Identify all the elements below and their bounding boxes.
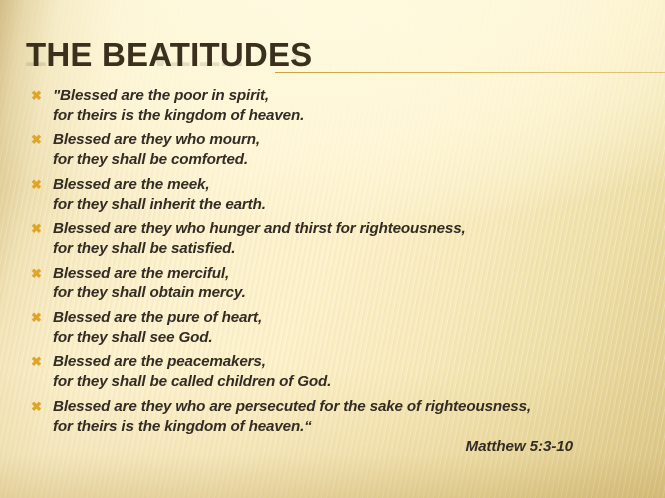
list-item: ✖Blessed are they who are persecuted for…	[26, 397, 654, 436]
cross-bullet-icon: ✖	[30, 133, 43, 146]
slide-title-block: THE BEATITUDES THE BEATITUDES	[26, 38, 646, 84]
list-item-text: Blessed are they who hunger and thirst f…	[53, 219, 654, 258]
list-item-line: Blessed are the peacemakers,	[53, 352, 654, 372]
list-item: ✖Blessed are the peacemakers,for they sh…	[26, 352, 654, 391]
cross-bullet-icon: ✖	[30, 400, 43, 413]
list-item-text: Blessed are the merciful,for they shall …	[53, 264, 654, 303]
scripture-attribution: Matthew 5:3-10	[466, 437, 573, 457]
list-item-line: for they shall obtain mercy.	[53, 283, 654, 303]
list-item-line: Blessed are the merciful,	[53, 264, 654, 284]
list-item-line: for they shall be comforted.	[53, 150, 654, 170]
cross-bullet-icon: ✖	[30, 267, 43, 280]
title-divider-rule	[275, 72, 665, 73]
list-item-text: Blessed are they who mourn,for they shal…	[53, 130, 654, 169]
list-item: ✖Blessed are the meek,for they shall inh…	[26, 175, 654, 214]
list-item-text: "Blessed are the poor in spirit,for thei…	[53, 86, 654, 125]
beatitudes-list: ✖"Blessed are the poor in spirit,for the…	[26, 86, 654, 441]
list-item-text: Blessed are the pure of heart,for they s…	[53, 308, 654, 347]
cross-bullet-icon: ✖	[30, 311, 43, 324]
list-item-line: for theirs is the kingdom of heaven.	[53, 106, 654, 126]
list-item-line: Blessed are they who are persecuted for …	[53, 397, 654, 417]
list-item-line: for they shall be satisfied.	[53, 239, 654, 259]
presentation-slide: THE BEATITUDES THE BEATITUDES ✖"Blessed …	[0, 0, 665, 498]
cross-bullet-icon: ✖	[30, 355, 43, 368]
cross-bullet-icon: ✖	[30, 178, 43, 191]
list-item-line: for they shall see God.	[53, 328, 654, 348]
list-item-line: for they shall be called children of God…	[53, 372, 654, 392]
list-item-line: Blessed are the meek,	[53, 175, 654, 195]
list-item-line: for they shall inherit the earth.	[53, 195, 654, 215]
list-item-text: Blessed are the meek,for they shall inhe…	[53, 175, 654, 214]
cross-bullet-icon: ✖	[30, 222, 43, 235]
page-title: THE BEATITUDES	[26, 38, 312, 72]
list-item-text: Blessed are they who are persecuted for …	[53, 397, 654, 436]
list-item-text: Blessed are the peacemakers,for they sha…	[53, 352, 654, 391]
list-item: ✖Blessed are they who mourn,for they sha…	[26, 130, 654, 169]
list-item-line: "Blessed are the poor in spirit,	[53, 86, 654, 106]
list-item: ✖"Blessed are the poor in spirit,for the…	[26, 86, 654, 125]
list-item-line: Blessed are they who hunger and thirst f…	[53, 219, 654, 239]
list-item-line: Blessed are the pure of heart,	[53, 308, 654, 328]
list-item-line: Blessed are they who mourn,	[53, 130, 654, 150]
list-item: ✖Blessed are they who hunger and thirst …	[26, 219, 654, 258]
cross-bullet-icon: ✖	[30, 89, 43, 102]
list-item: ✖Blessed are the pure of heart,for they …	[26, 308, 654, 347]
list-item: ✖Blessed are the merciful,for they shall…	[26, 264, 654, 303]
list-item-line: for theirs is the kingdom of heaven.“	[53, 417, 654, 437]
